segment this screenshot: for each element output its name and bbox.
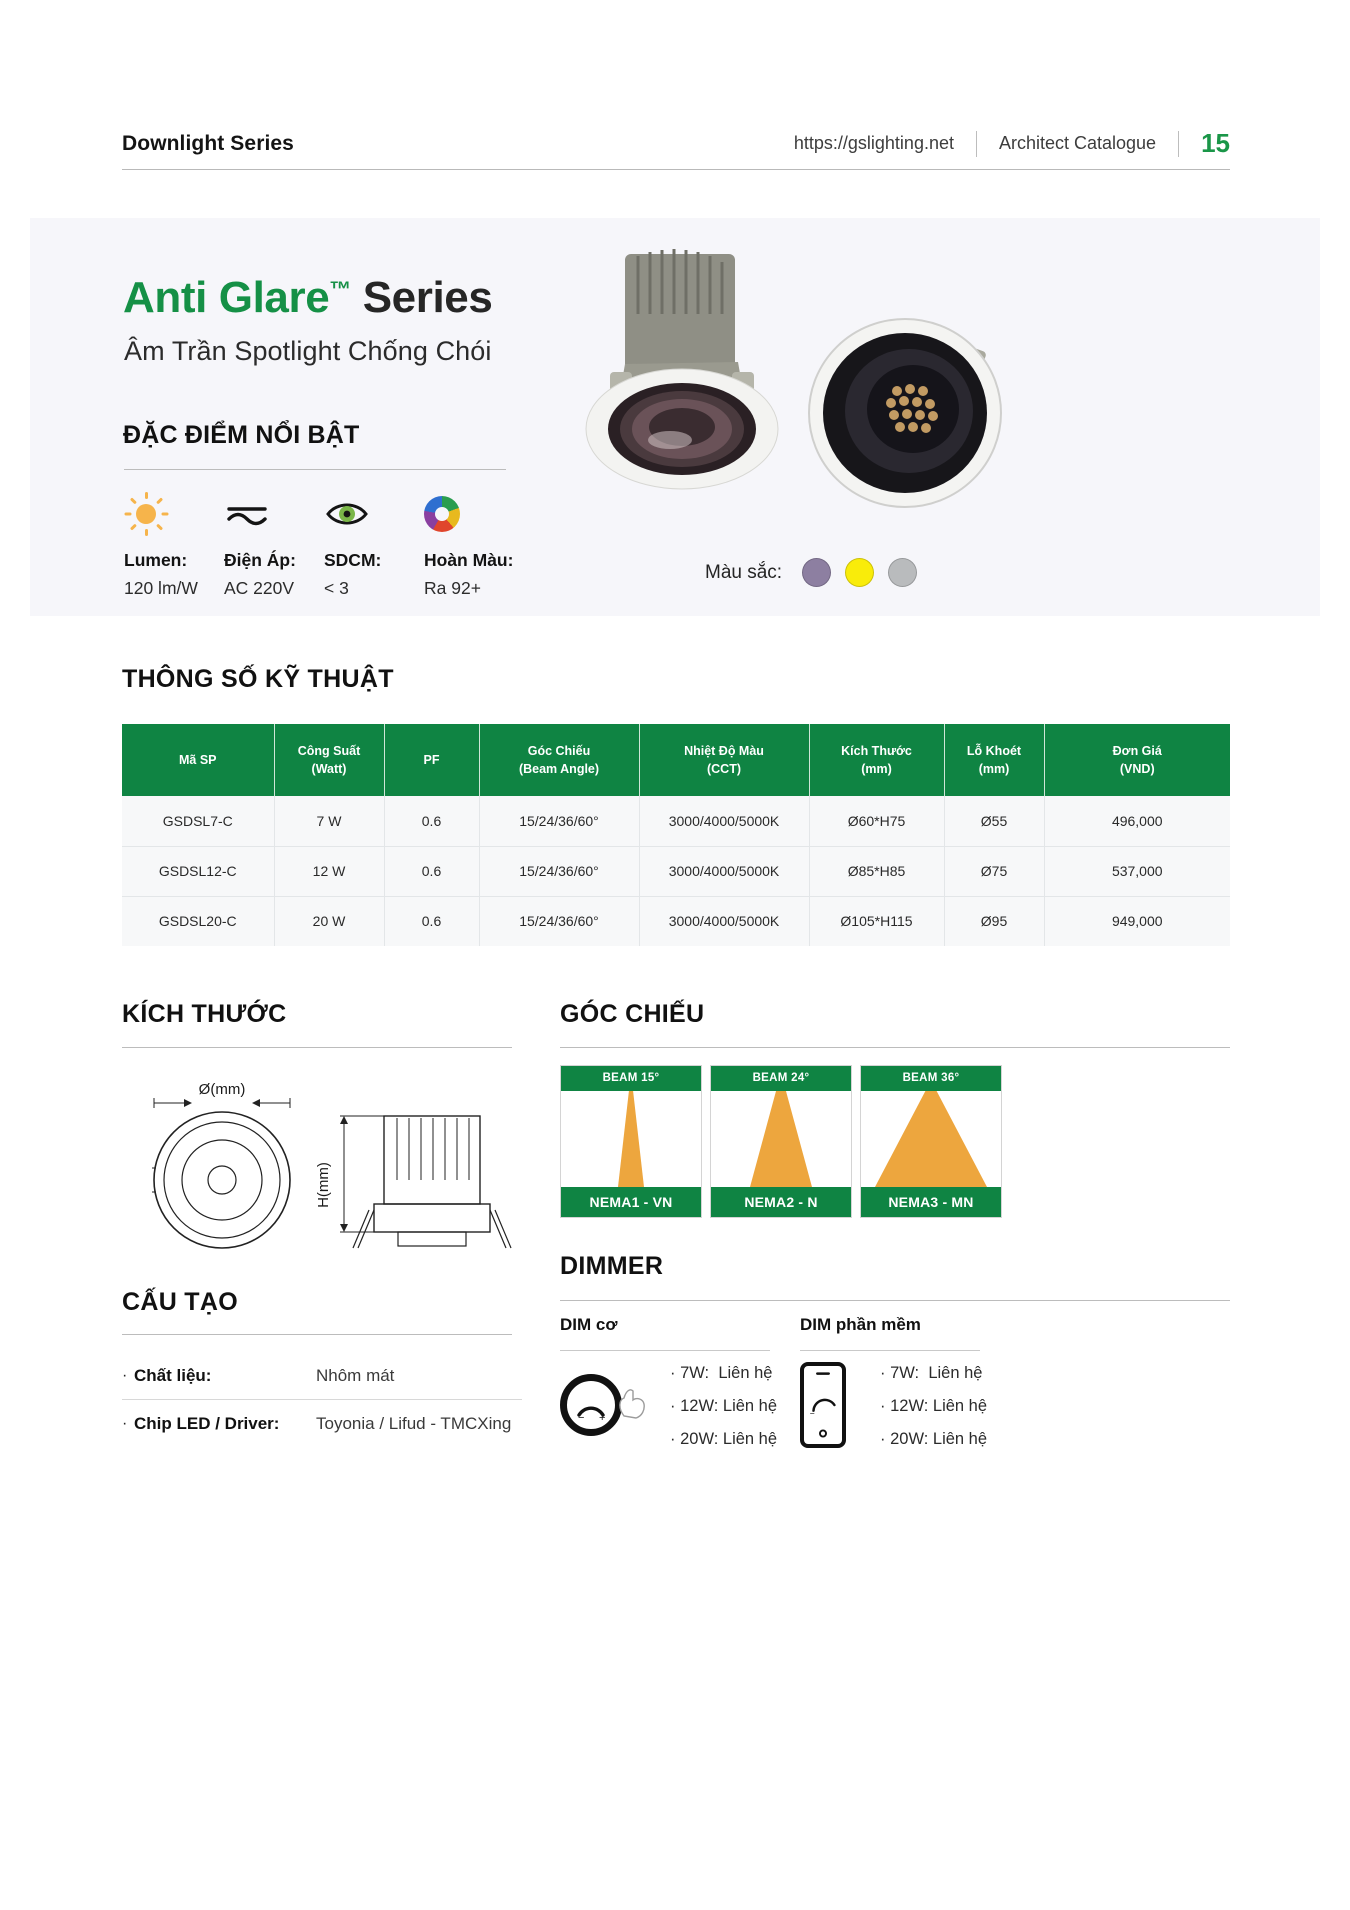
col-cong-suat: Công Suất(Watt) [274,724,384,796]
dimmer-mechanical-label: DIM cơ [560,1315,617,1335]
product-title-black: Series [363,273,493,322]
dim-watt: 7W: [680,1364,709,1382]
beam-card-24-footer: NEMA2 - N [711,1187,851,1217]
beam-cards: BEAM 15° NEMA1 - VN BEAM 24° NEMA2 - N B… [560,1065,1002,1218]
dimmer-mechanical-divider [560,1350,770,1351]
product-photo-front [805,303,1030,518]
dim-watt: 20W: [680,1430,718,1448]
cell-watt: 7 W [274,796,384,846]
color-swatch-yellow[interactable] [845,558,874,587]
dimmer-divider [560,1300,1230,1301]
cell-watt: 20 W [274,896,384,946]
ac-voltage-icon [224,494,270,534]
feature-lumen-value: 120 lm/W [124,578,224,599]
cell-cct: 3000/4000/5000K [639,896,809,946]
bullet-icon: · [670,1364,676,1382]
specs-table: Mã SP Công Suất(Watt) PF Góc Chiếu(Beam … [122,724,1230,946]
beam-card-24-header: BEAM 24° [711,1066,851,1091]
product-photo-side [570,244,825,514]
feature-voltage-value: AC 220V [224,578,324,599]
construction-divider [122,1334,512,1335]
col-don-gia: Đơn Giá(VND) [1044,724,1230,796]
dim-value: Liên hệ [723,1430,777,1448]
color-options: Màu sắc: [705,558,917,587]
col-kich-thuoc: Kích Thước(mm) [809,724,944,796]
dimensions-heading: KÍCH THƯỚC [122,1000,287,1029]
list-item: · Chất liệu: Nhôm mát [122,1352,522,1400]
list-item: · Chip LED / Driver: Toyonia / Lifud - T… [122,1400,522,1448]
beam-card-15: BEAM 15° NEMA1 - VN [560,1065,702,1218]
diameter-label: Ø(mm) [199,1081,246,1098]
cell-size: Ø85*H85 [809,846,944,896]
header-catalogue-label: Architect Catalogue [999,133,1156,154]
bullet-icon: · [122,1367,134,1385]
col-pf: PF [384,724,479,796]
dimmer-software-items: · 7W: Liên hệ · 12W: Liên hệ · 20W: Liên… [880,1360,987,1449]
list-item: · 20W: Liên hệ [670,1430,777,1449]
beam-card-15-diagram [561,1091,701,1187]
list-item: · 7W: Liên hệ [670,1364,777,1383]
dimensions-drawing: Ø(mm) H(mm) [122,1060,542,1260]
header-series-title: Downlight Series [122,132,294,156]
features-row: Lumen: 120 lm/W Điện Áp: AC 220V [124,488,524,599]
cell-pf: 0.6 [384,846,479,896]
dimmer-software-label: DIM phần mềm [800,1315,921,1335]
feature-cri: Hoàn Màu: Ra 92+ [424,488,524,599]
bullet-icon: · [670,1397,676,1415]
cell-beam: 15/24/36/60° [479,846,639,896]
beam-card-36: BEAM 36° NEMA3 - MN [860,1065,1002,1218]
feature-lumen: Lumen: 120 lm/W [124,488,224,599]
beam-card-36-header: BEAM 36° [861,1066,1001,1091]
cell-model: GSDSL7-C [122,796,274,846]
table-row: GSDSL12-C 12 W 0.6 15/24/36/60° 3000/400… [122,846,1230,896]
beam-divider [560,1047,1230,1048]
dim-value: Liên hệ [928,1364,982,1382]
col-cct: Nhiệt Độ Màu(CCT) [639,724,809,796]
dim-value: Liên hệ [933,1397,987,1415]
page-number: 15 [1201,128,1230,159]
dimmer-knob-icon: − + [560,1374,622,1436]
cell-cct: 3000/4000/5000K [639,796,809,846]
svg-text:+: + [599,1412,605,1424]
feature-cri-value: Ra 92+ [424,578,524,599]
color-wheel-icon-wrap [424,488,524,540]
feature-sdcm-label: SDCM: [324,550,424,571]
beam-cone-24 [750,1091,812,1187]
col-goc-chieu: Góc Chiếu(Beam Angle) [479,724,639,796]
bullet-icon: · [122,1415,134,1433]
dim-watt: 20W: [890,1430,928,1448]
svg-text:−: − [810,1408,815,1418]
bullet-icon: · [880,1397,886,1415]
construction-heading: CẤU TẠO [122,1288,238,1317]
cell-pf: 0.6 [384,896,479,946]
beam-card-36-footer: NEMA3 - MN [861,1187,1001,1217]
cell-size: Ø105*H115 [809,896,944,946]
product-subtitle: Âm Trần Spotlight Chống Chói [124,336,492,367]
cell-pf: 0.6 [384,796,479,846]
header-meta: https://gslighting.net Architect Catalog… [794,128,1230,159]
cell-price: 949,000 [1044,896,1230,946]
feature-lumen-label: Lumen: [124,550,224,571]
cell-price: 537,000 [1044,846,1230,896]
specs-heading: THÔNG SỐ KỸ THUẬT [122,665,394,694]
list-item: · 7W: Liên hệ [880,1364,987,1383]
features-heading: ĐẶC ĐIỂM NỔI BẬT [123,421,360,450]
dim-watt: 12W: [680,1397,718,1415]
page-header: Downlight Series https://gslighting.net … [122,118,1230,170]
color-swatch-purple[interactable] [802,558,831,587]
sun-icon [124,492,168,536]
table-row: GSDSL20-C 20 W 0.6 15/24/36/60° 3000/400… [122,896,1230,946]
dim-value: Liên hệ [933,1430,987,1448]
product-title-green: Anti Glare [123,273,329,322]
feature-voltage-label: Điện Áp: [224,550,324,571]
cell-model: GSDSL12-C [122,846,274,896]
construction-key-chip: Chip LED / Driver: [134,1414,279,1434]
dimmer-mechanical-block: − + · 7W: Liên hệ · 12W: Liên hệ · 20W: … [560,1360,777,1449]
catalogue-page: Downlight Series https://gslighting.net … [0,0,1350,1910]
beam-card-15-header: BEAM 15° [561,1066,701,1091]
hand-pointer-icon [616,1382,650,1420]
trademark-symbol: ™ [329,276,351,301]
cell-beam: 15/24/36/60° [479,896,639,946]
specs-header-row: Mã SP Công Suất(Watt) PF Góc Chiếu(Beam … [122,724,1230,796]
dimmer-mechanical-items: · 7W: Liên hệ · 12W: Liên hệ · 20W: Liên… [670,1360,777,1449]
product-title: Anti Glare™ Series [123,273,492,323]
feature-cri-label: Hoàn Màu: [424,550,524,571]
cell-beam: 15/24/36/60° [479,796,639,846]
header-divider-2 [1178,131,1179,157]
list-item: · 12W: Liên hệ [670,1397,777,1416]
table-row: GSDSL7-C 7 W 0.6 15/24/36/60° 3000/4000/… [122,796,1230,846]
cell-cct: 3000/4000/5000K [639,846,809,896]
color-wheel-icon [424,496,460,532]
dimmer-heading: DIMMER [560,1252,663,1281]
cell-size: Ø60*H75 [809,796,944,846]
bullet-icon: · [670,1430,676,1448]
feature-sdcm: SDCM: < 3 [324,488,424,599]
cell-model: GSDSL20-C [122,896,274,946]
cell-price: 496,000 [1044,796,1230,846]
eye-icon-wrap [324,488,424,540]
cell-cutout: Ø95 [944,896,1044,946]
dim-watt: 7W: [890,1364,919,1382]
dimmer-software-block: − · 7W: Liên hệ · 12W: Liên hệ · 20W: Li… [800,1360,987,1449]
feature-voltage: Điện Áp: AC 220V [224,488,324,599]
col-ma-sp: Mã SP [122,724,274,796]
beam-heading: GÓC CHIẾU [560,1000,704,1029]
cell-cutout: Ø75 [944,846,1044,896]
beam-card-24-diagram [711,1091,851,1187]
col-lo-khoet: Lỗ Khoét(mm) [944,724,1044,796]
dim-watt: 12W: [890,1397,928,1415]
header-divider-1 [976,131,977,157]
features-divider [124,469,506,470]
header-website-url[interactable]: https://gslighting.net [794,133,954,154]
cell-cutout: Ø55 [944,796,1044,846]
construction-list: · Chất liệu: Nhôm mát · Chip LED / Drive… [122,1352,522,1448]
hero-banner: Anti Glare™ Series Âm Trần Spotlight Chố… [30,218,1320,616]
cell-watt: 12 W [274,846,384,896]
beam-card-24: BEAM 24° NEMA2 - N [710,1065,852,1218]
smartphone-dimmer-icon: − [800,1362,846,1448]
list-item: · 12W: Liên hệ [880,1397,987,1416]
beam-cone-36 [875,1091,987,1187]
construction-key-material: Chất liệu: [134,1366,211,1386]
sun-icon-wrap [124,488,224,540]
beam-cone-15 [618,1091,644,1187]
beam-card-15-footer: NEMA1 - VN [561,1187,701,1217]
dimmer-software-divider [800,1350,980,1351]
svg-text:−: − [578,1412,584,1424]
list-item: · 20W: Liên hệ [880,1430,987,1449]
bullet-icon: · [880,1430,886,1448]
color-swatch-gray[interactable] [888,558,917,587]
height-label: H(mm) [315,1162,332,1208]
dim-value: Liên hệ [718,1364,772,1382]
eye-icon [324,494,370,534]
construction-value-chip: Toyonia / Lifud - TMCXing [304,1414,522,1434]
ac-voltage-icon-wrap [224,488,324,540]
beam-card-36-diagram [861,1091,1001,1187]
bullet-icon: · [880,1364,886,1382]
color-options-label: Màu sắc: [705,562,782,584]
dim-value: Liên hệ [723,1397,777,1415]
construction-value-material: Nhôm mát [304,1366,522,1386]
feature-sdcm-value: < 3 [324,578,424,599]
dimensions-divider [122,1047,512,1048]
